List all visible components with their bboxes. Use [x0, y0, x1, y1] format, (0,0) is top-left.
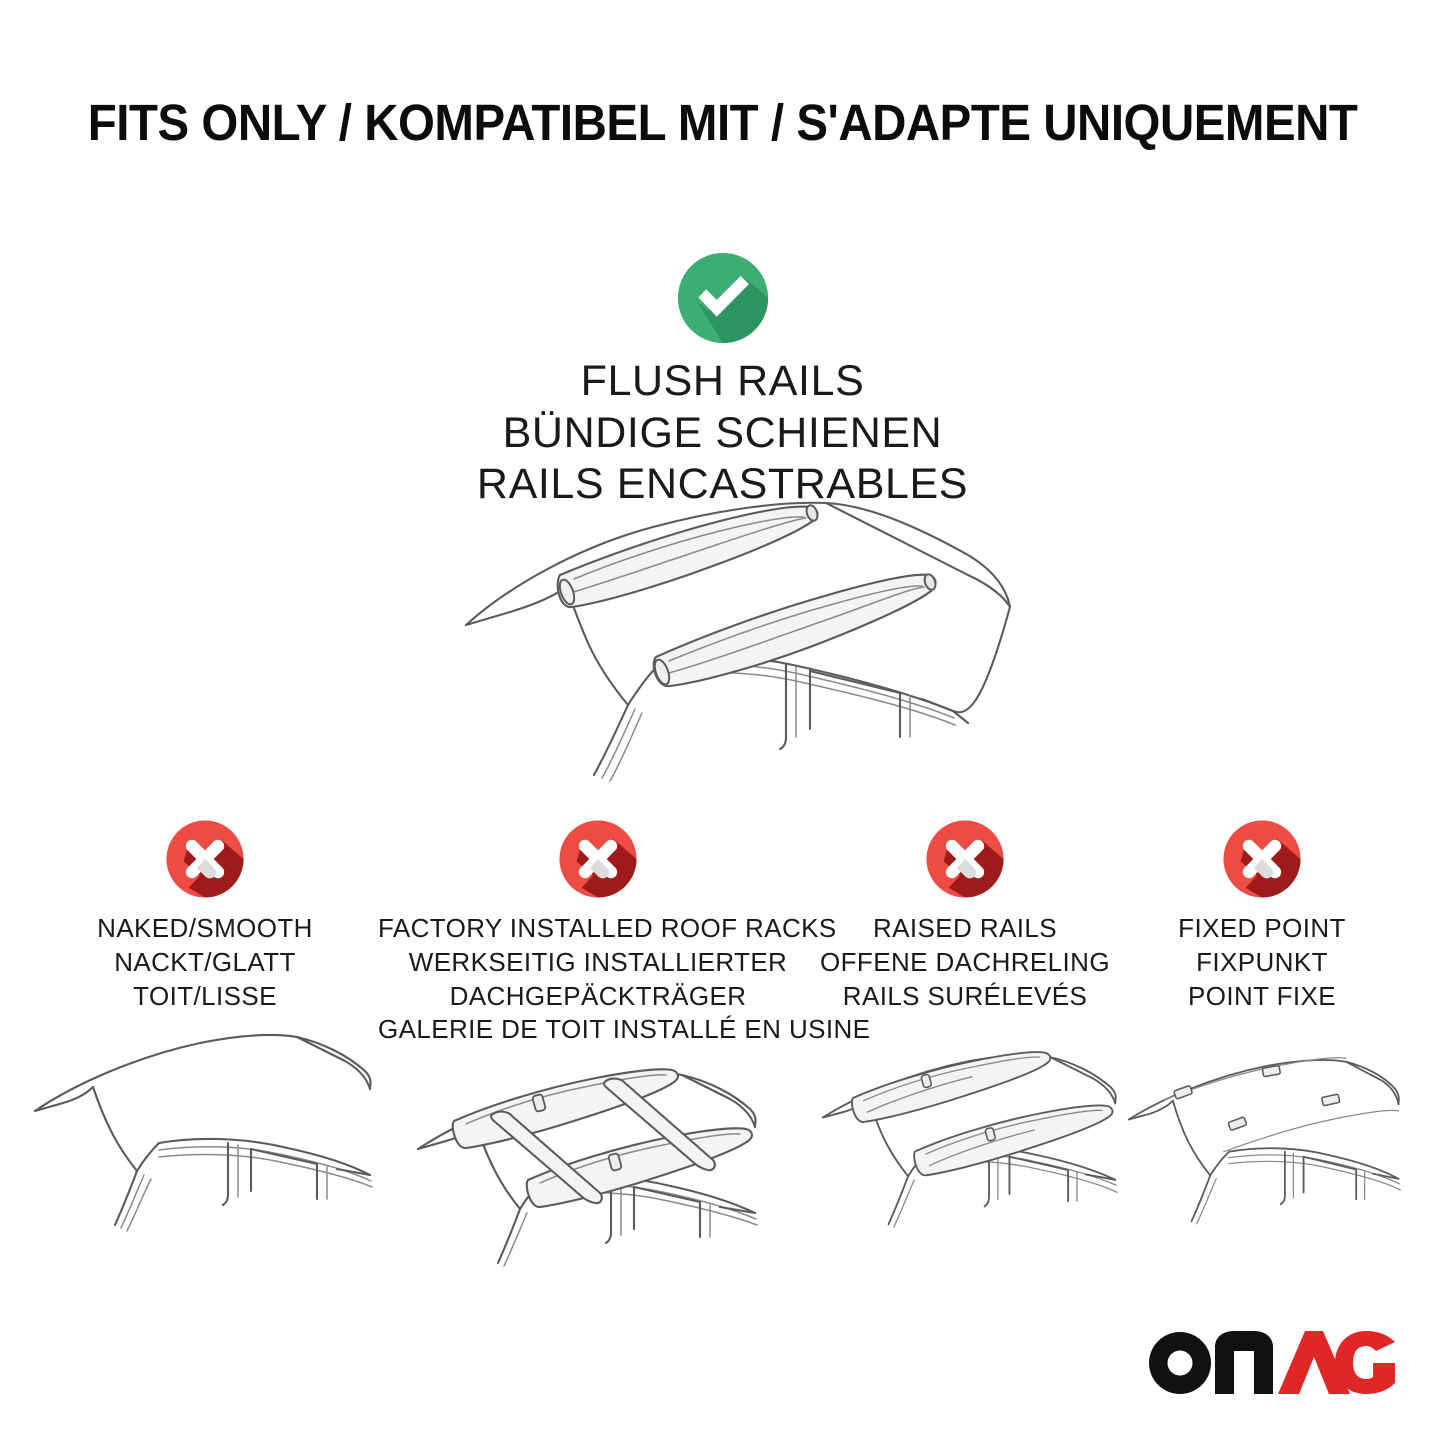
x-circle-icon	[924, 818, 1006, 900]
incompatible-line-fr: TOIT/LISSE	[25, 980, 385, 1014]
compatible-line-de: BÜNDIGE SCHIENEN	[0, 408, 1445, 460]
incompatible-line-fr: POINT FIXE	[1122, 980, 1402, 1014]
incompatible-line-en: FACTORY INSTALLED ROOF RACKS	[378, 912, 818, 946]
omac-logo	[1147, 1325, 1397, 1397]
car-roof-naked-smooth-illustration	[25, 1019, 385, 1234]
page-title: FITS ONLY / KOMPATIBEL MIT / S'ADAPTE UN…	[0, 96, 1445, 150]
logo-letter-o	[1149, 1332, 1211, 1394]
incompatible-line-en: NAKED/SMOOTH	[25, 912, 385, 946]
incompatible-labels: RAISED RAILS OFFENE DACHRELING RAILS SUR…	[805, 912, 1125, 1013]
incompatible-labels: NAKED/SMOOTH NACKT/GLATT TOIT/LISSE	[25, 912, 385, 1013]
incompatible-item-naked-smooth: NAKED/SMOOTH NACKT/GLATT TOIT/LISSE	[25, 818, 385, 1239]
incompatible-line-de-1: WERKSEITIG INSTALLIERTER	[378, 946, 818, 980]
car-roof-factory-racks-illustration	[378, 1053, 818, 1268]
incompatible-line-fr: RAILS SURÉLEVÉS	[805, 980, 1125, 1014]
compatible-section: FLUSH RAILS BÜNDIGE SCHIENEN RAILS ENCAS…	[0, 250, 1445, 511]
logo-letter-c	[1335, 1331, 1395, 1394]
incompatible-item-fixed-point: FIXED POINT FIXPUNKT POINT FIXE	[1122, 818, 1402, 1239]
incompatible-section: NAKED/SMOOTH NACKT/GLATT TOIT/LISSE	[0, 818, 1445, 1248]
incompatible-line-en: FIXED POINT	[1122, 912, 1402, 946]
incompatible-line-fr: GALERIE DE TOIT INSTALLÉ EN USINE	[378, 1013, 818, 1047]
incompatible-line-de: NACKT/GLATT	[25, 946, 385, 980]
car-roof-fixed-point-illustration	[1122, 1019, 1402, 1234]
incompatible-labels: FIXED POINT FIXPUNKT POINT FIXE	[1122, 912, 1402, 1013]
incompatible-line-de: FIXPUNKT	[1122, 946, 1402, 980]
car-roof-raised-rails-illustration	[805, 1019, 1125, 1234]
incompatible-item-factory-roof-racks: FACTORY INSTALLED ROOF RACKS WERKSEITIG …	[378, 818, 818, 1273]
incompatible-line-en: RAISED RAILS	[805, 912, 1125, 946]
x-circle-icon	[557, 818, 639, 900]
car-roof-flush-rails-illustration	[448, 475, 1028, 785]
logo-letter-m	[1215, 1331, 1273, 1394]
check-circle-icon	[675, 250, 771, 346]
incompatible-labels: FACTORY INSTALLED ROOF RACKS WERKSEITIG …	[378, 912, 818, 1047]
incompatible-item-raised-rails: RAISED RAILS OFFENE DACHRELING RAILS SUR…	[805, 818, 1125, 1239]
x-circle-icon	[1221, 818, 1303, 900]
compatible-line-en: FLUSH RAILS	[0, 356, 1445, 408]
page-title-text: FITS ONLY / KOMPATIBEL MIT / S'ADAPTE UN…	[88, 96, 1358, 150]
x-circle-icon	[164, 818, 246, 900]
incompatible-line-de-2: DACHGEPÄCKTRÄGER	[378, 980, 818, 1014]
incompatible-line-de: OFFENE DACHRELING	[805, 946, 1125, 980]
